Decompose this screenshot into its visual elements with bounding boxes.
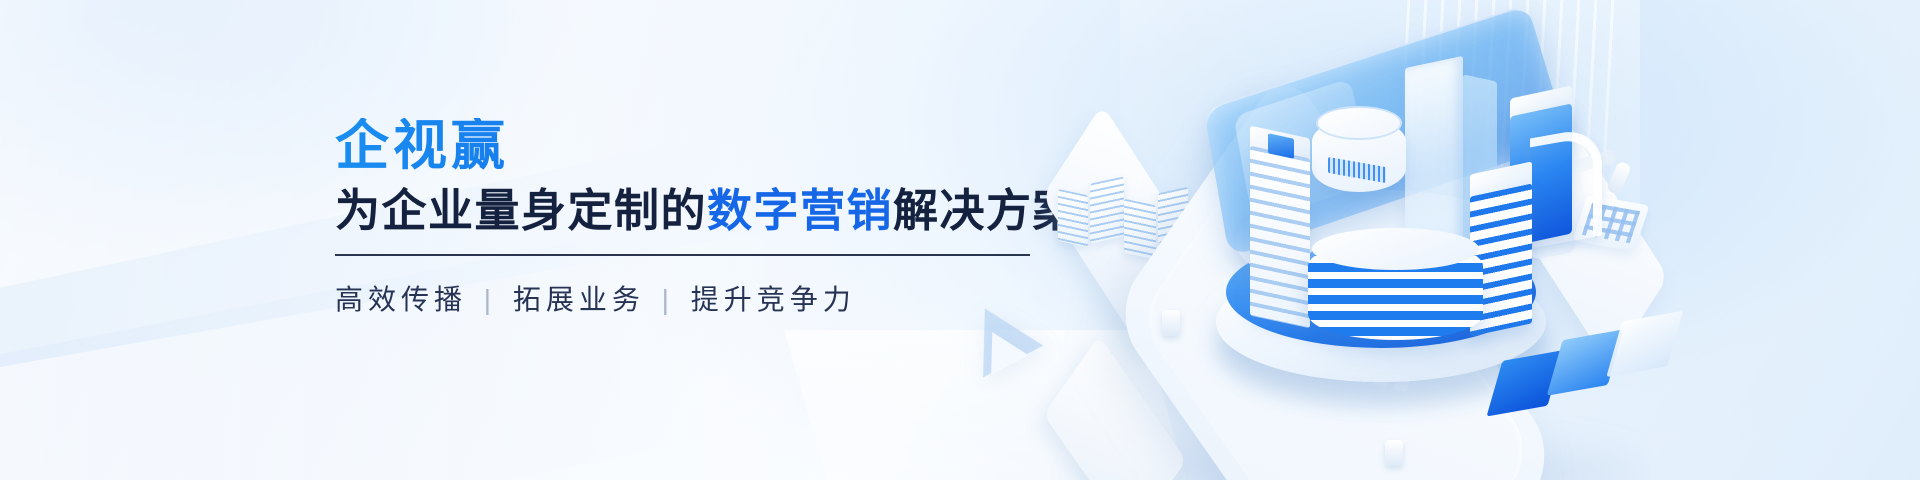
hero-copy: 企视赢 为企业量身定制的数字营销解决方案 高效传播 | 拓展业务 | 提升竞争力 [335, 118, 1095, 318]
divider-rule [335, 254, 1030, 256]
slab-post-front [1385, 440, 1403, 466]
pipe-arm [1530, 126, 1602, 249]
tagline-item-3: 提升竞争力 [691, 284, 856, 315]
mini-building-3 [1124, 199, 1156, 260]
ringed-building-roof [1312, 228, 1479, 270]
slab-post-left [1162, 310, 1180, 336]
mini-building-1 [1058, 189, 1088, 247]
tagline-separator-1: | [480, 284, 500, 315]
tagline-separator-2: | [658, 284, 678, 315]
mini-building-2 [1090, 176, 1124, 243]
headline-highlight: 数字营销 [707, 185, 893, 236]
hero-banner: 企视赢 为企业量身定制的数字营销解决方案 高效传播 | 拓展业务 | 提升竞争力 [0, 0, 1920, 480]
headline: 为企业量身定制的数字营销解决方案 [335, 186, 1095, 236]
skyscraper-left [1250, 146, 1310, 329]
headline-before: 为企业量身定制的 [335, 185, 707, 236]
robot-gripper [1606, 161, 1632, 196]
tagline-item-2: 拓展业务 [513, 284, 645, 315]
hero-illustration [1040, 40, 1760, 470]
silo-tank-lid [1316, 106, 1402, 140]
tagline-item-1: 高效传播 [335, 284, 467, 315]
brand-name: 企视赢 [335, 118, 1095, 174]
